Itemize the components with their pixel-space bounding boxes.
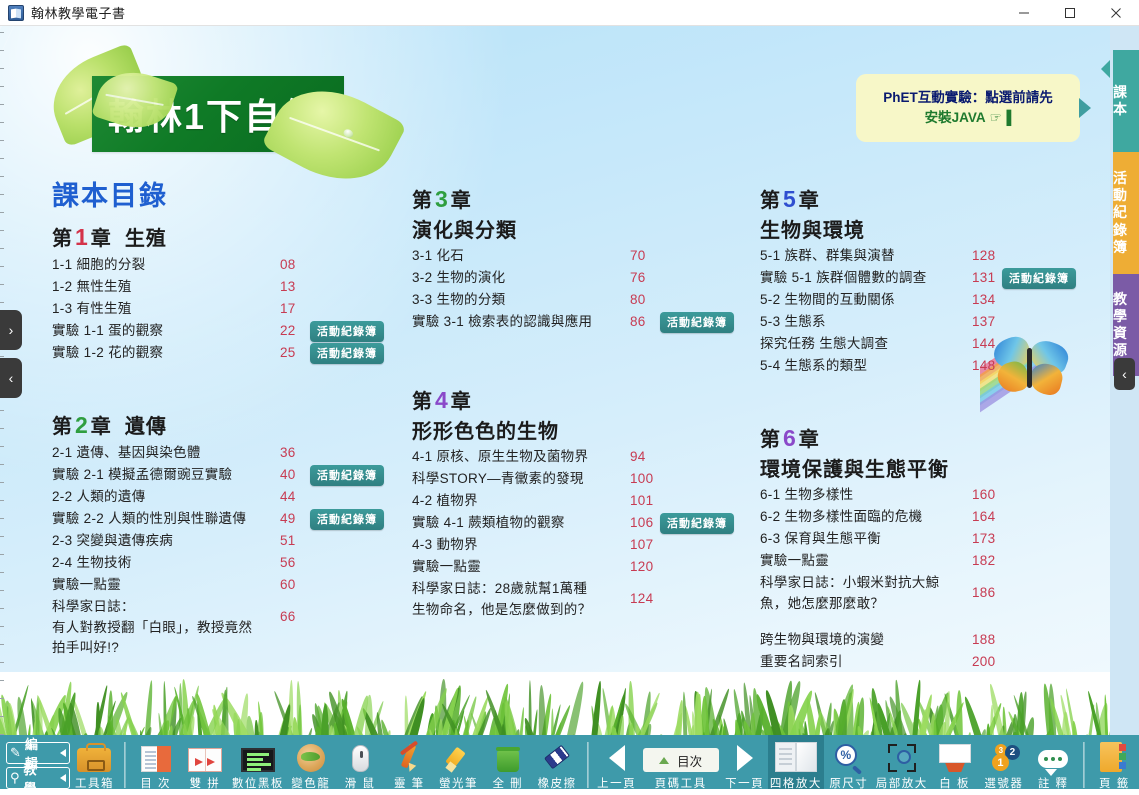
mouse-icon [352, 742, 369, 772]
toc-entry[interactable]: 實驗一點靈60 [52, 575, 412, 596]
side-tab-pointer-icon [1101, 60, 1110, 78]
toc-entry[interactable]: 實驗 4-1 蕨類植物的觀察106活動紀錄簿 [412, 513, 762, 534]
toolbar-item-original-size[interactable]: % 原尺寸 [824, 735, 873, 795]
toc-entry-page: 13 [280, 277, 296, 298]
toc-entry-page: 134 [972, 290, 995, 311]
magic-pen-icon [395, 742, 423, 772]
toc-entry-label: 科學家日誌：28歲就幫1萬種 生物命名，他是怎麼做到的？ [412, 579, 591, 620]
toc-entry-label: 實驗 3-1 檢索表的認識與應用 [412, 312, 592, 333]
activity-record-badge[interactable]: 活動紀錄簿 [1002, 268, 1076, 289]
page-canvas: 翰林1下自然 課本目錄 PhET互動實驗：點選前請先 安裝JAVA ☞▐ [0, 26, 1110, 761]
toc-entry-page: 144 [972, 334, 995, 355]
toc-entry[interactable]: 2-2 人類的遺傳44 [52, 487, 412, 508]
toc-entry-page: 107 [630, 535, 653, 556]
toc-entry-page: 80 [630, 290, 646, 311]
side-tab-label: 教學資源 [1113, 291, 1139, 359]
toolbar-item-number-picker[interactable]: 321 選號器 [979, 735, 1028, 795]
toc-entry-page: 200 [972, 652, 995, 673]
toc-entry-label: 2-2 人類的遺傳 [52, 487, 145, 508]
bottom-toolbar: ✎ 編 輯 ⚲ 教 學 工具箱 目 次 雙 拼 [0, 735, 1139, 795]
toc-entry-label: 實驗一點靈 [52, 575, 121, 596]
toc-entry[interactable]: 5-2 生物間的互動關係134 [760, 290, 1100, 311]
page-tool-box[interactable]: 目次 [643, 748, 719, 772]
window-controls [1001, 0, 1139, 26]
toolbar-item-clear-all[interactable]: 全 刪 [483, 735, 532, 795]
chapter-heading: 第4章 [412, 385, 762, 414]
toc-entry[interactable]: 3-3 生物的分類80 [412, 290, 762, 311]
toc-entry-label: 1-3 有性生殖 [52, 299, 132, 320]
toc-entry-label: 6-2 生物多樣性面臨的危機 [760, 507, 922, 528]
toc-entry-page: 51 [280, 531, 296, 552]
chapter-block: 第3章演化與分類3-1 化石703-2 生物的演化763-3 生物的分類80實驗… [412, 184, 762, 333]
chapter-subtitle: 演化與分類 [412, 214, 762, 243]
toc-entry-label: 科學家日誌： 有人對教授翻「白眼」，教授竟然 拍手叫好!? [52, 597, 252, 659]
toc-entry[interactable]: 5-3 生態系137 [760, 312, 1100, 333]
collapse-left-button[interactable]: ‹ [0, 358, 22, 398]
toolbar-item-dual-page[interactable]: 雙 拼 [180, 735, 229, 795]
table-of-contents-icon [141, 742, 171, 772]
notebook-icon [1100, 742, 1128, 772]
page-tool-value: 目次 [677, 751, 702, 770]
number-picker-icon: 321 [988, 742, 1020, 772]
toc-entry[interactable]: 6-2 生物多樣性面臨的危機164 [760, 507, 1100, 528]
chameleon-icon [297, 742, 325, 772]
toolbar-separator [1083, 742, 1085, 788]
toc-entry[interactable]: 6-1 生物多樣性160 [760, 485, 1100, 506]
chevron-right-icon: › [9, 322, 14, 338]
toc-entry[interactable]: 1-2 無性生殖13 [52, 277, 412, 298]
toc-entry[interactable]: 實驗一點靈182 [760, 551, 1100, 572]
toc-entry-page: 186 [972, 583, 995, 604]
toc-entry[interactable]: 2-1 遺傳、基因與染色體36 [52, 443, 412, 464]
toc-entry-page: 94 [630, 447, 646, 468]
toc-entry[interactable]: 實驗 1-2 花的觀察25活動紀錄簿 [52, 343, 412, 364]
toc-entry[interactable]: 1-3 有性生殖17 [52, 299, 412, 320]
toc-entry-page: 101 [630, 491, 653, 512]
toc-entry[interactable]: 5-4 生態系的類型148 [760, 356, 1100, 377]
toc-entry[interactable]: 3-1 化石70 [412, 246, 762, 267]
toc-entry[interactable]: 1-1 細胞的分裂08 [52, 255, 412, 276]
sidebar-item-activity-record[interactable]: 活動紀錄簿 [1113, 152, 1139, 274]
whiteboard-icon [939, 742, 971, 772]
dual-page-icon [188, 742, 222, 772]
toc-entry-label: 1-1 細胞的分裂 [52, 255, 145, 276]
chapter-block: 第1章 生殖1-1 細胞的分裂081-2 無性生殖131-3 有性生殖17實驗 … [52, 222, 412, 364]
activity-record-badge[interactable]: 活動紀錄簿 [660, 312, 734, 333]
toc-entry-label: 科學STORY—青黴素的發現 [412, 469, 584, 490]
toc-entry-label: 4-3 動物界 [412, 535, 478, 556]
toc-entry[interactable]: 4-2 植物界101 [412, 491, 762, 512]
page-tool[interactable]: 目次 頁碼工具 [640, 735, 722, 795]
blackboard-icon [241, 742, 275, 772]
toolbar-item-chameleon[interactable]: 變色龍 [286, 735, 335, 795]
next-page-button[interactable]: 下一頁 [722, 735, 768, 795]
toc-entry-label: 實驗一點靈 [760, 551, 829, 572]
activity-record-badge[interactable]: 活動紀錄簿 [310, 465, 384, 486]
status-bar [0, 789, 1139, 795]
mode-switcher: ✎ 編 輯 ⚲ 教 學 [0, 735, 70, 795]
toc-entry-page: 22 [280, 321, 296, 342]
toc-entry-label: 實驗 1-2 花的觀察 [52, 343, 163, 364]
toc-entry-label: 3-1 化石 [412, 246, 464, 267]
toc-entry-label: 重要名詞索引 [760, 652, 843, 673]
expand-right-button[interactable]: › [0, 310, 22, 350]
toc-entry-page: 44 [280, 487, 296, 508]
chapter-block: 第5章生物與環境5-1 族群、群集與演替128實驗 5-1 族群個體數的調查13… [760, 184, 1100, 377]
toc-entry-label: 科學家日誌：小蝦米對抗大鯨 魚，她怎麼那麼敢？ [760, 573, 939, 614]
toc-entry-page: 76 [630, 268, 646, 289]
toc-entry[interactable]: 探究任務 生態大調查144 [760, 334, 1100, 355]
toolbar-item-four-grid-zoom[interactable]: 四格放大 [768, 735, 825, 795]
minimize-button[interactable] [1001, 0, 1047, 26]
toc-entry [760, 615, 1100, 629]
toolbar-separator [587, 742, 589, 788]
activity-record-badge[interactable]: 活動紀錄簿 [310, 343, 384, 364]
toc-entry[interactable]: 實驗 2-2 人類的性別與性聯遺傳49活動紀錄簿 [52, 509, 412, 530]
chapter-heading: 第5章 [760, 184, 1100, 213]
toc-entry-page: 25 [280, 343, 296, 364]
toc-entry[interactable]: 科學家日誌：28歲就幫1萬種 生物命名，他是怎麼做到的？124 [412, 579, 762, 620]
chapter-block: 第4章形形色色的生物4-1 原核、原生生物及菌物界94科學STORY—青黴素的發… [412, 385, 762, 620]
toc-entry-label: 2-1 遺傳、基因與染色體 [52, 443, 201, 464]
chevron-left-icon: ‹ [9, 370, 14, 386]
toc-entry-page: 49 [280, 509, 296, 530]
toolbar-item-toolbox[interactable]: 工具箱 [70, 735, 119, 795]
chapter-subtitle: 環境保護與生態平衡 [760, 453, 1100, 482]
toolbar-item-bookmark[interactable]: 頁 籤 [1090, 735, 1139, 795]
toc-column-2: 第3章演化與分類3-1 化石703-2 生物的演化763-3 生物的分類80實驗… [412, 184, 762, 624]
toc-entry-label: 2-3 突變與遺傳疾病 [52, 531, 173, 552]
toc-entry-page: 148 [972, 356, 995, 377]
toolbar-item-magic-pen[interactable]: 靈 筆 [385, 735, 434, 795]
open-book-icon [775, 742, 817, 772]
right-triangle-icon [737, 745, 753, 771]
toc-entry[interactable]: 實驗 5-1 族群個體數的調查131活動紀錄簿 [760, 268, 1100, 289]
toolbar-item-table-of-contents[interactable]: 目 次 [131, 735, 180, 795]
toc-entry[interactable]: 2-3 突變與遺傳疾病51 [52, 531, 412, 552]
percent-zoom-icon: % [835, 742, 863, 772]
toc-entry[interactable]: 實驗 2-1 模擬孟德爾豌豆實驗40活動紀錄簿 [52, 465, 412, 486]
toc-entry-page: 188 [972, 630, 995, 651]
toc-column-3: 第5章生物與環境5-1 族群、群集與演替128實驗 5-1 族群個體數的調查13… [760, 184, 1100, 699]
toc-entry-label: 跨生物與環境的演變 [760, 630, 884, 651]
toolbar-item-mouse[interactable]: 滑 鼠 [335, 735, 384, 795]
toc-entry-page: 56 [280, 553, 296, 574]
pointer-icon: ⚲ [10, 770, 21, 786]
toc-entry-label: 1-2 無性生殖 [52, 277, 132, 298]
chapter-heading: 第6章 [760, 423, 1100, 452]
toc-entry[interactable]: 6-3 保育與生態平衡173 [760, 529, 1100, 550]
toc-entry-label: 4-2 植物界 [412, 491, 478, 512]
toc-entry-label: 6-1 生物多樣性 [760, 485, 853, 506]
toc-entry-label: 實驗 5-1 族群個體數的調查 [760, 268, 927, 289]
toc-entry-page: 60 [280, 575, 296, 596]
toc-entry-page: 131 [972, 268, 995, 289]
toc-entry-page: 106 [630, 513, 653, 534]
toolbar-item-annotation[interactable]: 註 釋 [1029, 735, 1078, 795]
chapter-block: 第2章 遺傳2-1 遺傳、基因與染色體36實驗 2-1 模擬孟德爾豌豆實驗40活… [52, 410, 412, 659]
toc-entry-page: 120 [630, 557, 653, 578]
caret-up-icon [659, 757, 669, 764]
toc-entry[interactable]: 跨生物與環境的演變188 [760, 630, 1100, 651]
toc-entry-page: 173 [972, 529, 995, 550]
toc-entry[interactable]: 4-1 原核、原生生物及菌物界94 [412, 447, 762, 468]
chapter-heading: 第2章 遺傳 [52, 410, 412, 439]
toc-entry[interactable]: 4-3 動物界107 [412, 535, 762, 556]
toc-entry-page: 40 [280, 465, 296, 486]
comment-icon [1038, 742, 1068, 772]
toc-entry-label: 實驗 4-1 蕨類植物的觀察 [412, 513, 565, 534]
title-bar: 翰林教學電子書 [0, 0, 1139, 26]
chapter-block: 第6章環境保護與生態平衡6-1 生物多樣性1606-2 生物多樣性面臨的危機16… [760, 423, 1100, 695]
toc-entry-label: 實驗 2-2 人類的性別與性聯遺傳 [52, 509, 246, 530]
toc-entry-label: 實驗 2-1 模擬孟德爾豌豆實驗 [52, 465, 232, 486]
toc-entry-label: 6-3 保育與生態平衡 [760, 529, 881, 550]
side-tab-rail: 課本 活動紀錄簿 教學資源 [1110, 26, 1139, 761]
page-navigation: 上一頁 目次 頁碼工具 下一頁 [594, 735, 768, 795]
toc-entry-label: 探究任務 生態大調查 [760, 334, 888, 355]
highlighter-icon [445, 742, 473, 772]
toc-entry-label: 2-4 生物技術 [52, 553, 132, 574]
toc-entry-page: 137 [972, 312, 995, 333]
chapter-subtitle: 生物與環境 [760, 214, 1100, 243]
toc-entry[interactable]: 3-2 生物的演化76 [412, 268, 762, 289]
window-title: 翰林教學電子書 [31, 3, 126, 22]
chapter-heading: 第1章 生殖 [52, 222, 412, 251]
chapter-heading: 第3章 [412, 184, 762, 213]
toolbar-item-highlighter[interactable]: 螢光筆 [434, 735, 483, 795]
toc-entry-page: 182 [972, 551, 995, 572]
toc-entry-label: 3-3 生物的分類 [412, 290, 505, 311]
toc-entry-page: 124 [630, 589, 653, 610]
toc-entry-page: 70 [630, 246, 646, 267]
toolbar-item-blackboard[interactable]: 數位黑板 [230, 735, 287, 795]
toc-columns: 第1章 生殖1-1 細胞的分裂081-2 無性生殖131-3 有性生殖17實驗 … [0, 26, 1110, 761]
left-triangle-icon [609, 745, 625, 771]
toolbar-separator [124, 742, 126, 788]
toolbar-item-partial-zoom[interactable]: 局部放大 [873, 735, 930, 795]
toolbar-item-whiteboard[interactable]: 白 板 [930, 735, 979, 795]
sidebar-item-textbook[interactable]: 課本 [1113, 50, 1139, 152]
chapter-subtitle: 形形色色的生物 [412, 415, 762, 444]
toc-entry[interactable]: 科學STORY—青黴素的發現100 [412, 469, 762, 490]
toc-entry-page: 128 [972, 246, 995, 267]
toc-entry[interactable]: 科學家日誌： 有人對教授翻「白眼」，教授竟然 拍手叫好!?66 [52, 597, 412, 659]
trash-icon [497, 742, 519, 772]
toc-entry-label: 實驗一點靈 [412, 557, 481, 578]
toc-entry[interactable]: 5-1 族群、群集與演替128 [760, 246, 1100, 267]
pencil-icon: ✎ [10, 745, 22, 761]
side-tab-label: 活動紀錄簿 [1113, 170, 1139, 255]
activity-record-badge[interactable]: 活動紀錄簿 [310, 509, 384, 530]
toc-entry[interactable]: 科學家日誌：小蝦米對抗大鯨 魚，她怎麼那麼敢？186 [760, 573, 1100, 614]
toc-entry-page: 100 [630, 469, 653, 490]
toc-entry-page: 17 [280, 299, 296, 320]
app-icon [8, 5, 24, 21]
toc-entry-page: 164 [972, 507, 995, 528]
toc-entry-label: 5-2 生物間的互動關係 [760, 290, 895, 311]
toc-entry-label: 3-2 生物的演化 [412, 268, 505, 289]
crop-zoom-icon [888, 742, 916, 772]
toc-column-1: 第1章 生殖1-1 細胞的分裂081-2 無性生殖131-3 有性生殖17實驗 … [52, 222, 412, 663]
activity-record-badge[interactable]: 活動紀錄簿 [660, 513, 734, 534]
toc-entry-label: 4-1 原核、原生生物及菌物界 [412, 447, 588, 468]
toc-entry[interactable]: 實驗 1-1 蛋的觀察22活動紀錄簿 [52, 321, 412, 342]
toc-entry-page: 86 [630, 312, 646, 333]
toc-entry[interactable]: 實驗一點靈120 [412, 557, 762, 578]
toc-entry-page: 66 [280, 607, 296, 628]
ebook-app-window: 翰林教學電子書 翰林1下自然 課本目錄 PhET互動實驗：點 [0, 0, 1139, 795]
close-button[interactable] [1093, 0, 1139, 26]
toc-entry-page: 08 [280, 255, 296, 276]
teach-mode-button[interactable]: ⚲ 教 學 [6, 767, 70, 789]
toc-entry[interactable]: 實驗 3-1 檢索表的認識與應用86活動紀錄簿 [412, 312, 762, 333]
prev-page-button[interactable]: 上一頁 [594, 735, 640, 795]
toc-entry-label: 實驗 1-1 蛋的觀察 [52, 321, 163, 342]
eraser-icon [543, 742, 571, 772]
side-rail-collapse-button[interactable]: ‹ [1114, 358, 1135, 390]
toc-entry-label: 5-3 生態系 [760, 312, 826, 333]
toc-entry-label: 5-1 族群、群集與演替 [760, 246, 895, 267]
toolbox-icon [77, 742, 111, 772]
maximize-button[interactable] [1047, 0, 1093, 26]
activity-record-badge[interactable]: 活動紀錄簿 [310, 321, 384, 342]
side-tab-label: 課本 [1113, 84, 1139, 118]
toc-entry[interactable]: 重要名詞索引200 [760, 652, 1100, 673]
chevron-left-icon: ‹ [1122, 366, 1127, 382]
toc-entry[interactable]: 2-4 生物技術56 [52, 553, 412, 574]
toc-entry-page: 160 [972, 485, 995, 506]
toolbar-item-eraser[interactable]: 橡皮擦 [532, 735, 581, 795]
toc-entry-page: 36 [280, 443, 296, 464]
toc-entry-label: 5-4 生態系的類型 [760, 356, 867, 377]
